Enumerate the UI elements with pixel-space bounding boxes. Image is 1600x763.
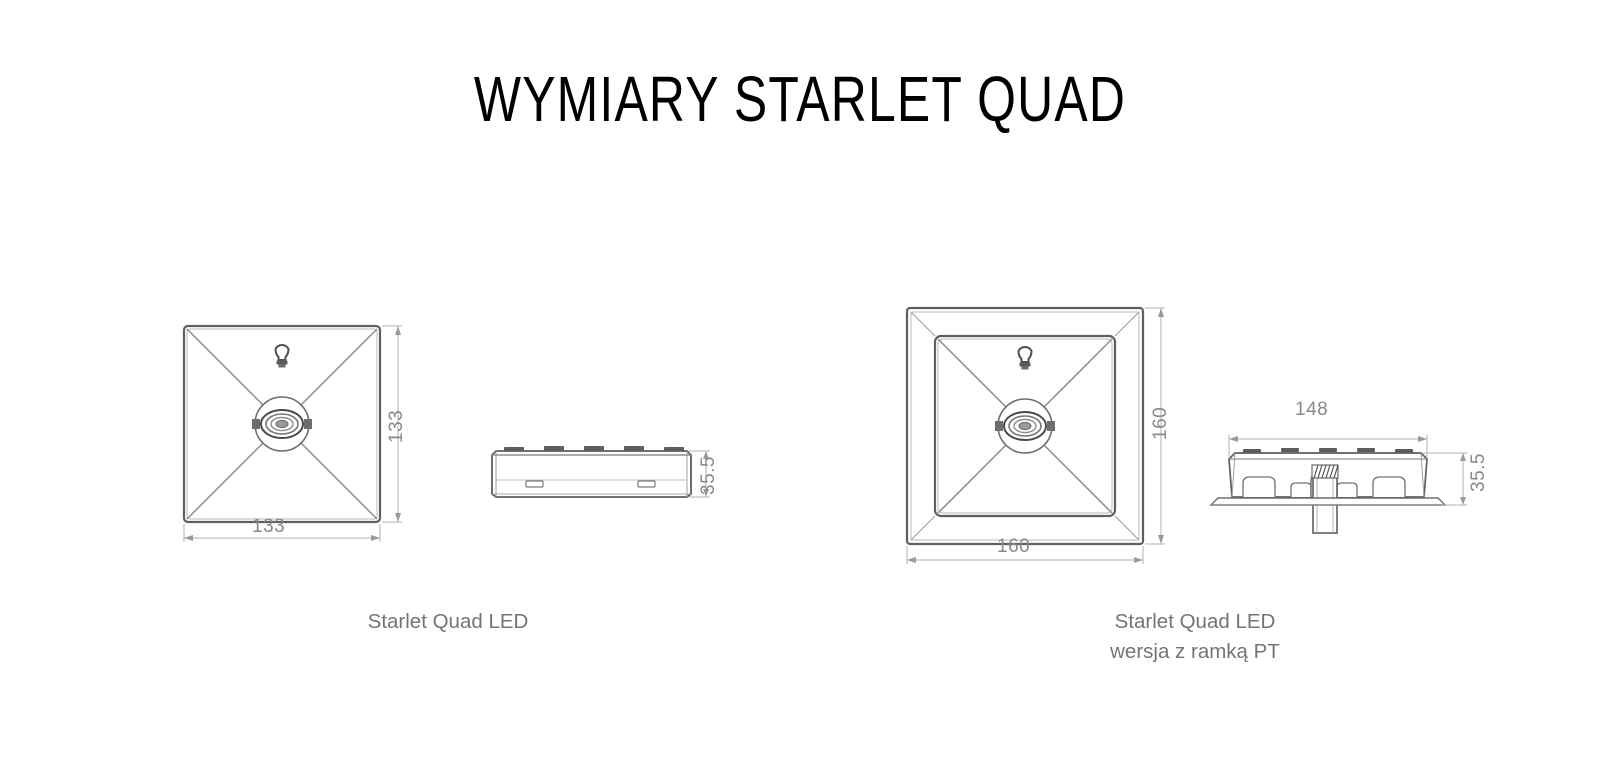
caption-line-1: Starlet Quad LED [262, 607, 634, 637]
caption-starlet-quad-led-pt: Starlet Quad LED wersja z ramką PT [1000, 607, 1390, 667]
dimension-label-height-160: 160 [1150, 407, 1172, 440]
caption-line-1: Starlet Quad LED [1000, 607, 1390, 637]
page-title: WYMIARY STARLET QUAD [176, 62, 1424, 136]
caption-starlet-quad-led: Starlet Quad LED [262, 607, 634, 637]
dimension-label-side-width-148: 148 [1295, 399, 1328, 421]
dimension-label-pt-thickness-35-5: 35.5 [1468, 453, 1490, 492]
slide-canvas: WYMIARY STARLET QUAD [0, 0, 1600, 763]
starlet-quad-led-pt-thickness-dimension [1205, 425, 1495, 560]
starlet-quad-led-thickness-dimension [482, 436, 732, 516]
starlet-quad-led-height-dimension [170, 310, 420, 560]
dimension-label-height-133: 133 [386, 410, 408, 443]
starlet-quad-led-pt-height-dimension [895, 296, 1185, 566]
caption-line-2: wersja z ramką PT [1000, 637, 1390, 667]
dimension-label-thickness-35-5: 35.5 [698, 456, 720, 495]
